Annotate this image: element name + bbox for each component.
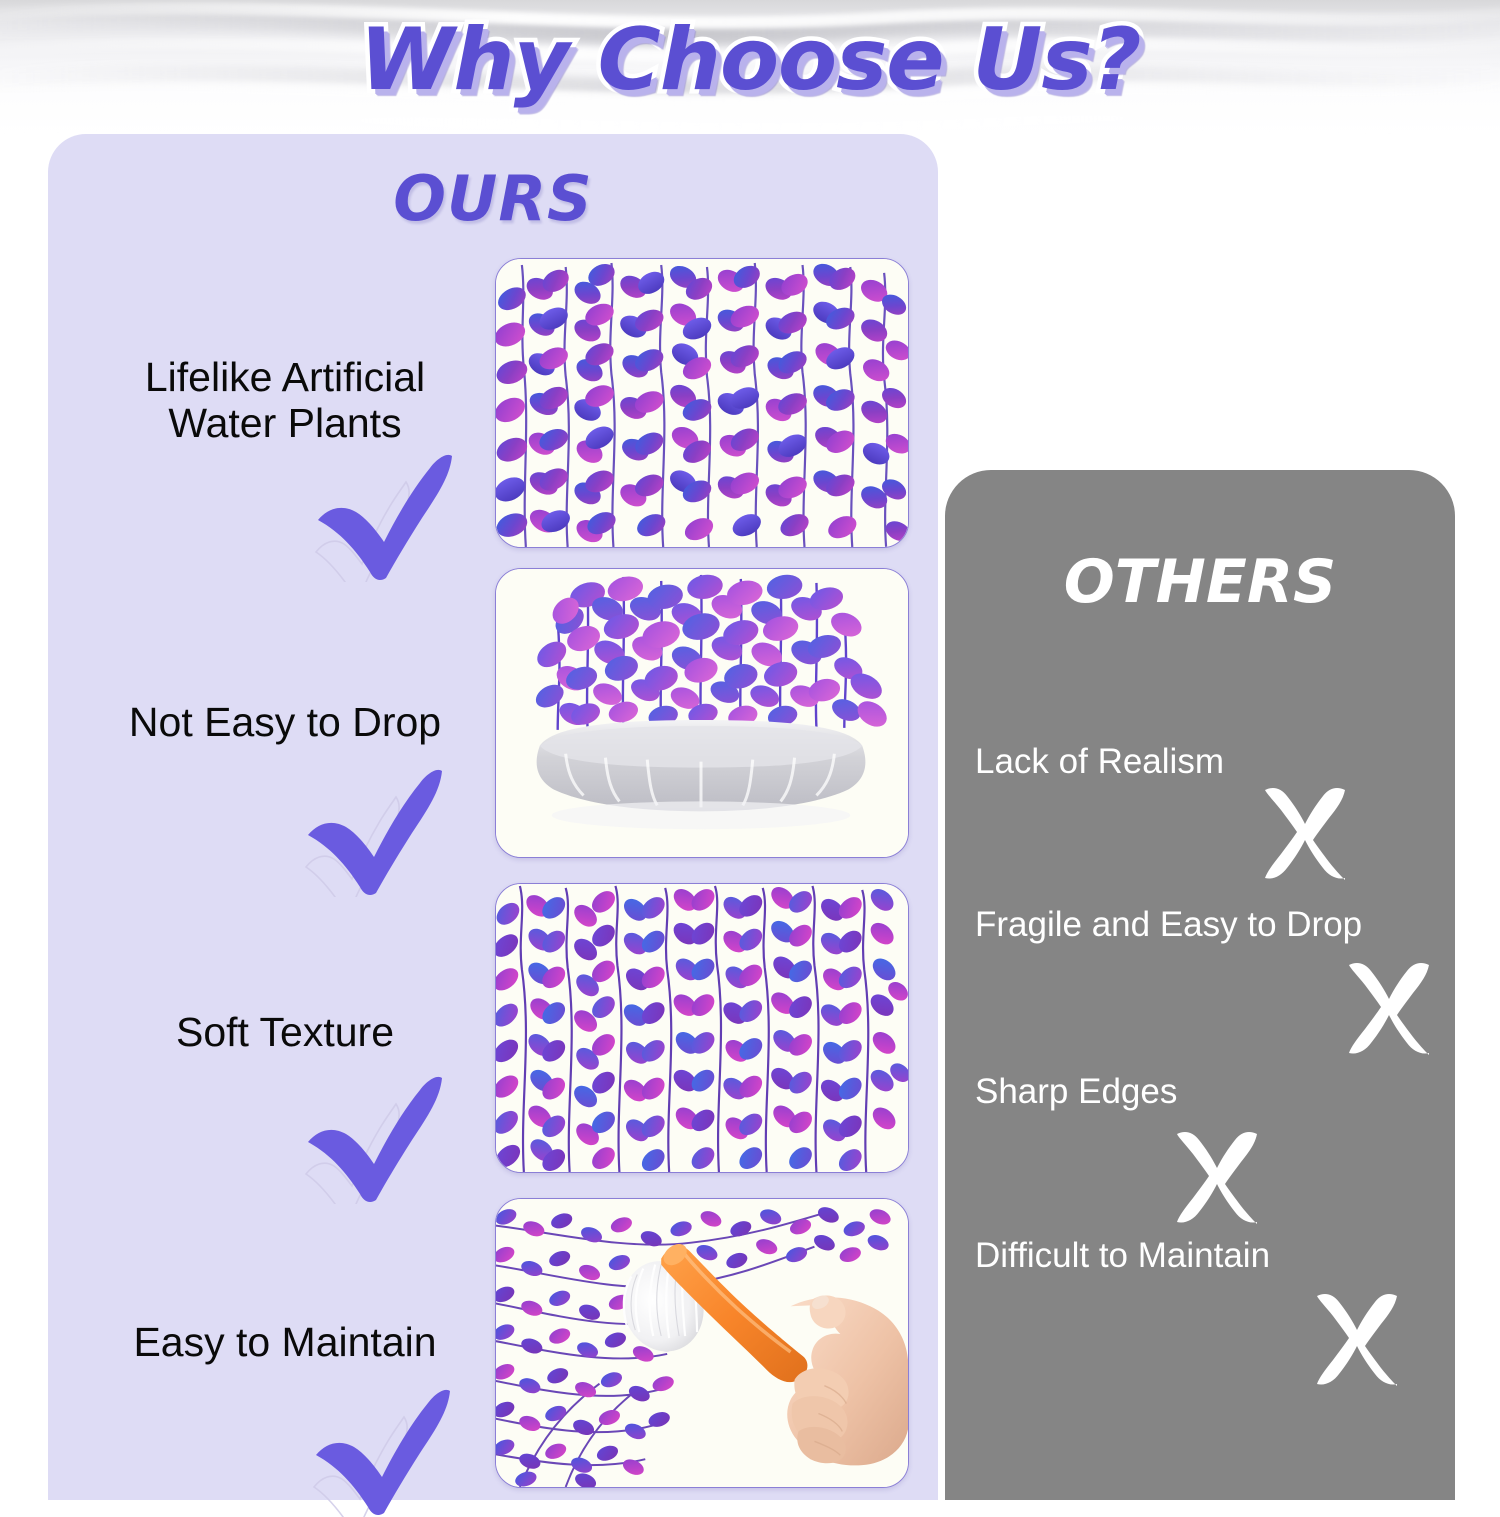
- others-heading: OTHERS: [945, 547, 1455, 617]
- ours-feature-label: Lifelike Artificial Water Plants: [70, 355, 500, 447]
- ours-feature-label: Easy to Maintain: [70, 1320, 500, 1366]
- x-icon: [1255, 780, 1355, 880]
- x-icon: [1307, 1286, 1407, 1386]
- page-title: Why Choose Us?: [0, 10, 1500, 110]
- check-icon: [290, 765, 460, 897]
- product-photo-hand-cleaning-plants-with-brush: [495, 1198, 909, 1488]
- product-photo-plant-with-weighted-base: [495, 568, 909, 858]
- product-photo-dense-purple-aquarium-plants: [495, 258, 909, 548]
- others-drawback-label: Difficult to Maintain: [975, 1236, 1270, 1276]
- check-icon: [300, 450, 470, 582]
- check-icon: [298, 1385, 468, 1517]
- ours-feature-label: Not Easy to Drop: [70, 700, 500, 746]
- others-drawback-label: Lack of Realism: [975, 742, 1224, 782]
- check-icon: [290, 1072, 460, 1204]
- ours-feature-label: Soft Texture: [70, 1010, 500, 1056]
- x-icon: [1339, 955, 1439, 1055]
- others-drawback-label: Fragile and Easy to Drop: [975, 905, 1362, 945]
- x-icon: [1167, 1124, 1267, 1224]
- ours-heading: OURS: [48, 162, 938, 235]
- others-drawback-label: Sharp Edges: [975, 1072, 1177, 1112]
- product-photo-tall-purple-plant-stems: [495, 883, 909, 1173]
